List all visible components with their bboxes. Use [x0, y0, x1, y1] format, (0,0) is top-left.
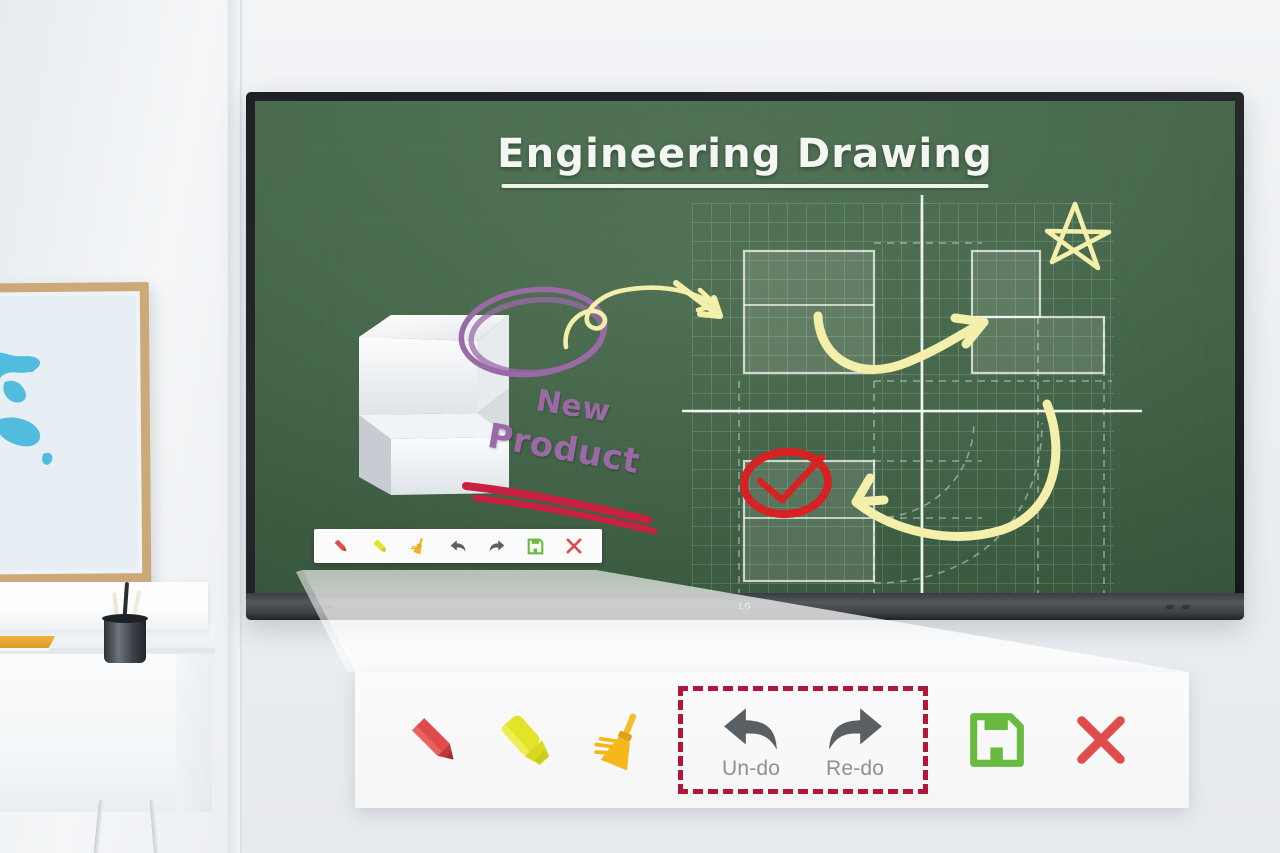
desk-front-panel — [0, 652, 182, 812]
undo-arrow-icon[interactable] — [446, 534, 470, 558]
speaker-vent — [324, 605, 332, 609]
speaker-vent — [1166, 605, 1174, 609]
highlighter-tool-button[interactable] — [476, 672, 577, 808]
orthographic-drawing — [692, 203, 1114, 594]
close-button[interactable] — [1050, 672, 1151, 808]
close-x-icon — [1072, 711, 1130, 769]
interactive-flat-panel-display: Engineering Drawing — [246, 92, 1244, 620]
ir-sensor-icon — [741, 607, 750, 616]
eraser-tool-button[interactable] — [577, 672, 671, 808]
title-underline — [502, 184, 989, 188]
drawing-views-svg — [682, 193, 1142, 594]
highlighter-icon[interactable] — [368, 534, 392, 558]
undo-redo-highlight-box: Un-do Re-do — [678, 686, 928, 794]
board-title-text: Engineering Drawing — [497, 131, 993, 177]
redo-label: Re-do — [826, 757, 884, 781]
save-floppy-icon — [967, 710, 1027, 770]
yellow-notebook — [0, 636, 55, 648]
undo-arrow-icon — [720, 705, 782, 753]
undo-button[interactable]: Un-do — [699, 705, 803, 781]
redo-arrow-icon[interactable] — [485, 534, 509, 558]
chalkboard-canvas[interactable]: Engineering Drawing — [255, 101, 1235, 594]
pencil-icon[interactable] — [329, 534, 353, 558]
world-map-poster — [0, 282, 151, 584]
wall-seam — [240, 0, 243, 853]
world-map-icon — [0, 319, 110, 501]
brush-icon[interactable] — [407, 534, 431, 558]
page-title: Engineering Drawing — [255, 131, 1235, 177]
redo-arrow-icon — [824, 705, 886, 753]
display-screen: Engineering Drawing — [255, 101, 1235, 594]
display-bottom-bezel: LG — [246, 593, 1244, 620]
pen-tool-button[interactable] — [393, 672, 476, 808]
save-button[interactable] — [944, 672, 1050, 808]
close-x-icon[interactable] — [562, 534, 586, 558]
save-floppy-icon[interactable] — [524, 534, 548, 558]
highlighter-icon — [493, 707, 559, 773]
redo-button[interactable]: Re-do — [803, 705, 907, 781]
poster-mat — [0, 295, 138, 571]
pen-holder-rim — [102, 614, 148, 623]
on-screen-annotation-toolbar[interactable] — [314, 529, 602, 563]
pencil-icon — [403, 709, 465, 771]
pen-holder — [104, 618, 146, 663]
magnified-annotation-toolbar[interactable]: Un-do Re-do — [355, 672, 1189, 808]
scene-root: Engineering Drawing — [0, 0, 1280, 853]
brush-icon — [591, 708, 655, 772]
speaker-vent — [1182, 605, 1190, 609]
undo-label: Un-do — [722, 757, 780, 781]
